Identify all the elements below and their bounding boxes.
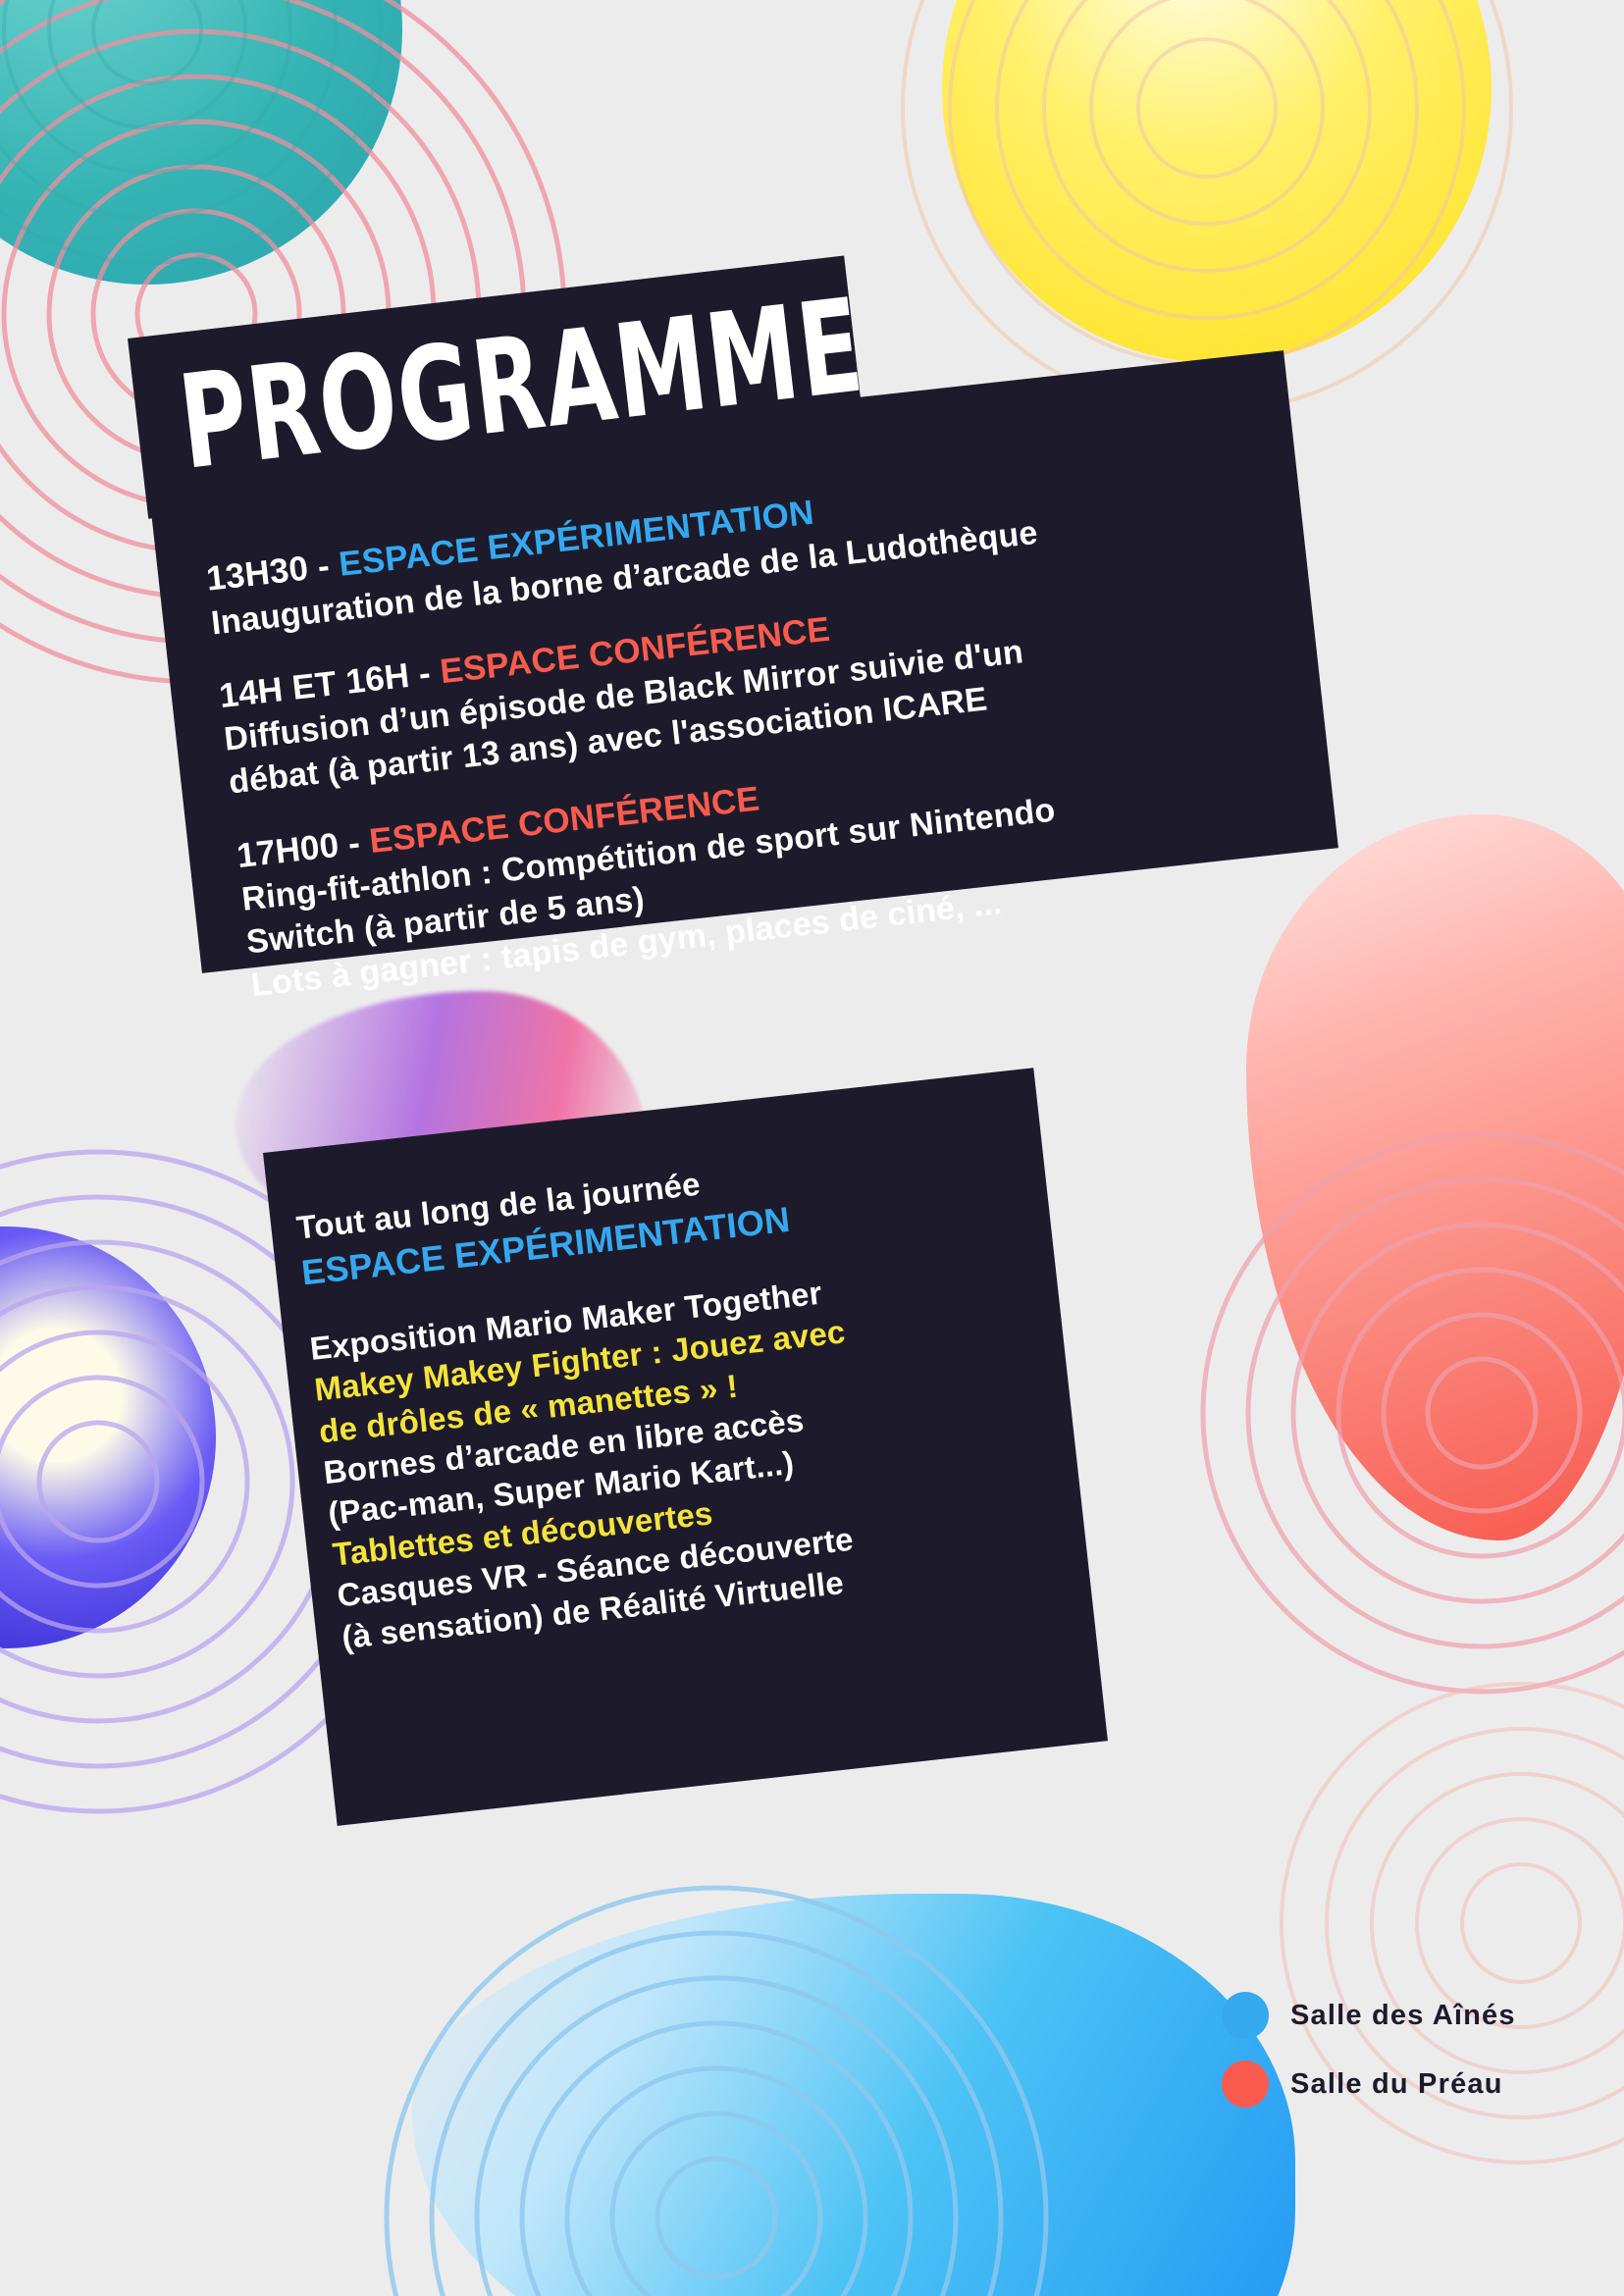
poster-canvas: PROGRAMME 13H30 - ESPACE EXPÉRIMENTATION…: [0, 0, 1624, 2296]
teal-blob: [0, 0, 402, 285]
schedule-time: 17H00: [235, 825, 341, 874]
ring-group-right: [1178, 1109, 1624, 1717]
legend-label: Salle des Aînés: [1290, 2000, 1516, 2032]
schedule-separator: -: [306, 546, 341, 587]
schedule-time: 13H30: [204, 549, 310, 599]
schedule-separator: -: [337, 822, 372, 863]
legend-dot-icon: [1222, 2061, 1269, 2108]
legend-item: Salle des Aînés: [1222, 1992, 1516, 2039]
coral-blob: [1246, 814, 1624, 1540]
blue-bottom-blob: [412, 1894, 1295, 2296]
all-day-list: Tout au long de la journée ESPACE EXPÉRI…: [294, 1148, 874, 1658]
ring-group-bottom: [363, 1864, 1070, 2296]
schedule-list: 13H30 - ESPACE EXPÉRIMENTATION Inaugurat…: [204, 466, 1083, 1037]
venue-legend: Salle des Aînés Salle du Préau: [1222, 1992, 1516, 2108]
ring-group-teal-inner: [0, 0, 422, 304]
yellow-blob: [942, 0, 1492, 363]
schedule-separator: -: [407, 652, 443, 694]
blue-left-blob: [0, 1226, 216, 1648]
legend-label: Salle du Préau: [1290, 2068, 1503, 2101]
legend-item: Salle du Préau: [1222, 2061, 1516, 2108]
legend-dot-icon: [1222, 1992, 1269, 2039]
